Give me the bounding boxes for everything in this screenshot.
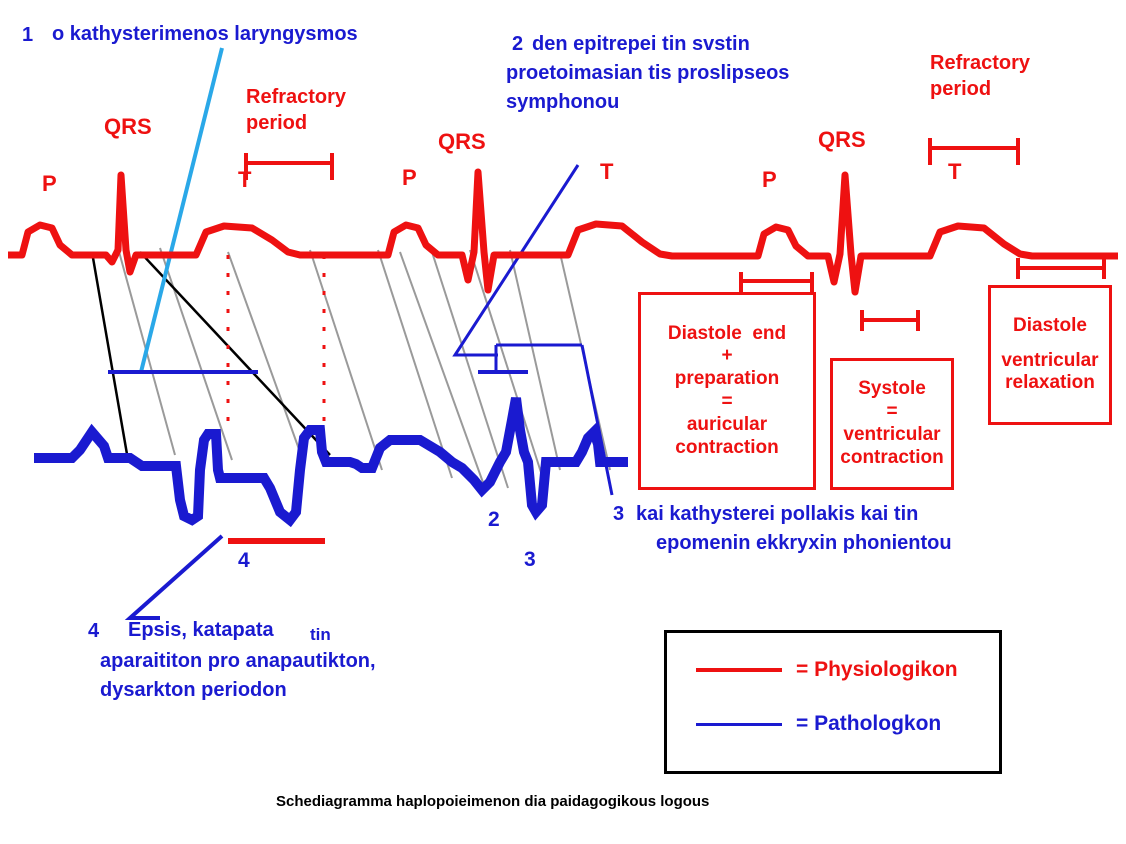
box-diastole-end-l2: +: [721, 345, 732, 368]
box-systole: Systole = ventricular contraction: [830, 358, 954, 490]
box-diastole-end-l1: Diastole end: [668, 323, 786, 346]
note4-line1a: Epsis, katapata: [128, 618, 274, 642]
box-systole-l4: contraction: [840, 447, 943, 470]
bracket-diastole-end: [741, 272, 812, 293]
refractory-left-line2: period: [246, 112, 307, 135]
refractory-left-line1: Refractory: [246, 86, 346, 109]
note2-line1: den epitrepei tin svstin: [532, 32, 750, 56]
wave-label-qrs2: QRS: [438, 130, 486, 155]
legend-label-pathologkon: = Pathologkon: [796, 712, 941, 736]
legend-row-physiologikon: = Physiologikon: [696, 658, 958, 682]
box-diastole-relaxation: Diastole ventricular relaxation: [988, 285, 1112, 425]
note4-index: 4: [88, 620, 99, 642]
marker-4: 4: [238, 549, 250, 573]
wave-label-t1: T: [238, 168, 251, 193]
note3-line2: epomenin ekkryxin phonientou: [656, 531, 952, 555]
marker-2: 2: [488, 508, 500, 532]
note4-line1b: tin: [310, 625, 331, 645]
box-diastole-end: Diastole end + preparation = auricular c…: [638, 292, 816, 490]
ecg-trace-pathological: [34, 398, 628, 520]
box-systole-l2: =: [886, 401, 897, 424]
box-diastole-relax-l1: Diastole: [1013, 315, 1087, 338]
box-diastole-end-l6: contraction: [675, 437, 778, 460]
refractory-right-line2: period: [930, 78, 991, 101]
box-diastole-relax-l3: ventricular: [1001, 350, 1098, 373]
diagram-canvas: 1 o kathysterimenos laryngysmos 2 den ep…: [0, 0, 1126, 844]
legend-swatch-physiologikon: [696, 668, 782, 672]
box-systole-l3: ventricular: [843, 424, 940, 447]
note2-index: 2: [512, 33, 523, 55]
bracket-refractory-right: [930, 138, 1018, 165]
bracket-diastole-relaxation: [1018, 258, 1104, 279]
wave-label-qrs3: QRS: [818, 128, 866, 153]
legend-label-physiologikon: = Physiologikon: [796, 658, 958, 682]
box-systole-l1: Systole: [858, 378, 926, 401]
box-diastole-end-l3: preparation: [675, 368, 780, 391]
note4-line2: aparaititon pro anapautikton,: [100, 649, 376, 673]
note3-index: 3: [613, 503, 624, 525]
legend-swatch-pathologkon: [696, 723, 782, 726]
projection-line-cyan: [141, 48, 222, 372]
wave-label-p3: P: [762, 168, 777, 193]
wave-label-t2: T: [600, 160, 613, 185]
box-diastole-end-l4: =: [721, 391, 732, 414]
wave-label-p1: P: [42, 172, 57, 197]
box-diastole-end-l5: auricular: [687, 414, 767, 437]
note1-text: o kathysterimenos laryngysmos: [52, 22, 358, 46]
marker-3: 3: [524, 548, 536, 572]
bracket-systole: [862, 310, 918, 331]
figure-caption: Schediagramma haplopoieimenon dia paidag…: [276, 793, 709, 810]
note1-index: 1: [22, 24, 33, 46]
legend-box: [664, 630, 1002, 774]
note3-line1: kai kathysterei pollakis kai tin: [636, 502, 918, 526]
projection-lines-gray: [118, 248, 610, 488]
note2-line2: proetoimasian tis proslipseos: [506, 61, 789, 85]
wave-label-qrs1: QRS: [104, 115, 152, 140]
bracket-refractory-left: [246, 153, 332, 180]
wave-label-t3: T: [948, 160, 961, 185]
box-diastole-relax-l4: relaxation: [1005, 372, 1095, 395]
marker4-leader: [130, 536, 222, 618]
note4-line3: dysarkton periodon: [100, 678, 287, 702]
refractory-right-line1: Refractory: [930, 52, 1030, 75]
wave-label-p2: P: [402, 166, 417, 191]
legend-row-pathologkon: = Pathologkon: [696, 712, 941, 736]
dotted-guides-red: [228, 255, 324, 425]
note2-line3: symphonou: [506, 90, 619, 114]
